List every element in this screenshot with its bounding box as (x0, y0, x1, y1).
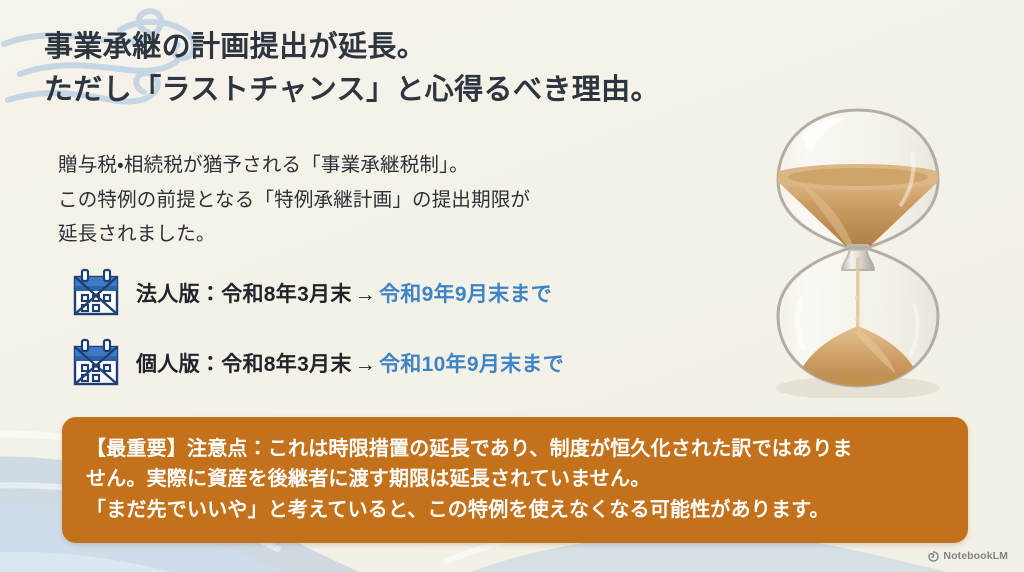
calendar-cancelled-icon (70, 338, 122, 388)
deadline-row-text: 個人版：令和8年3月末→令和10年9月末まで (136, 348, 564, 378)
deadline-row-individual: 個人版：令和8年3月末→令和10年9月末まで (70, 334, 564, 392)
lead-paragraph: 贈与税・相続税が猶予される「事業承継税制」。 この特例の前提となる「特例承継計画… (58, 148, 698, 252)
warning-callout: 【最重要】注意点：これは時限措置の延長であり、制度が恒久化された訳ではありま せ… (62, 417, 968, 543)
slide-canvas: 事業承継の計画提出が延長。 ただし「ラストチャンス」と心得るべき理由。 贈与税・… (0, 0, 1024, 572)
deadline-new: 令和10年9月末まで (379, 353, 564, 376)
notebooklm-spiral-icon (928, 551, 939, 562)
watermark-label: NotebookLM (943, 550, 1008, 562)
hourglass-illustration (762, 98, 954, 398)
title-line-1: 事業承継の計画提出が延長。 (44, 26, 804, 69)
deadline-row-corporate: 法人版：令和8年3月末→令和9年9月末まで (70, 264, 564, 322)
deadline-old: 令和8年3月末 (221, 353, 351, 376)
deadline-list: 法人版：令和8年3月末→令和9年9月末まで (70, 264, 564, 404)
slide-title: 事業承継の計画提出が延長。 ただし「ラストチャンス」と心得るべき理由。 (44, 26, 804, 111)
callout-line-3: 「まだ先でいいや」と考えていると、この特例を使えなくなる可能性があります。 (86, 495, 944, 525)
deadline-label: 法人版： (136, 283, 221, 306)
calendar-cancelled-icon (70, 268, 122, 318)
lead-line-1: 贈与税・相続税が猶予される「事業承継税制」。 (58, 148, 698, 183)
deadline-label: 個人版： (136, 353, 221, 376)
deadline-row-text: 法人版：令和8年3月末→令和9年9月末まで (136, 278, 552, 308)
arrow-glyph: → (352, 283, 379, 306)
lead-line-3: 延長されました。 (58, 217, 698, 252)
callout-line-1: 【最重要】注意点：これは時限措置の延長であり、制度が恒久化された訳ではありま (86, 434, 944, 464)
arrow-glyph: → (352, 353, 379, 376)
deadline-new: 令和9年9月末まで (379, 283, 552, 306)
title-line-2: ただし「ラストチャンス」と心得るべき理由。 (44, 69, 804, 112)
deadline-old: 令和8年3月末 (221, 283, 351, 306)
callout-line-2: せん。実際に資産を後継者に渡す期限は延長されていません。 (86, 464, 944, 494)
lead-line-2: この特例の前提となる「特例承継計画」の提出期限が (58, 183, 698, 218)
notebooklm-watermark: NotebookLM (928, 550, 1008, 562)
